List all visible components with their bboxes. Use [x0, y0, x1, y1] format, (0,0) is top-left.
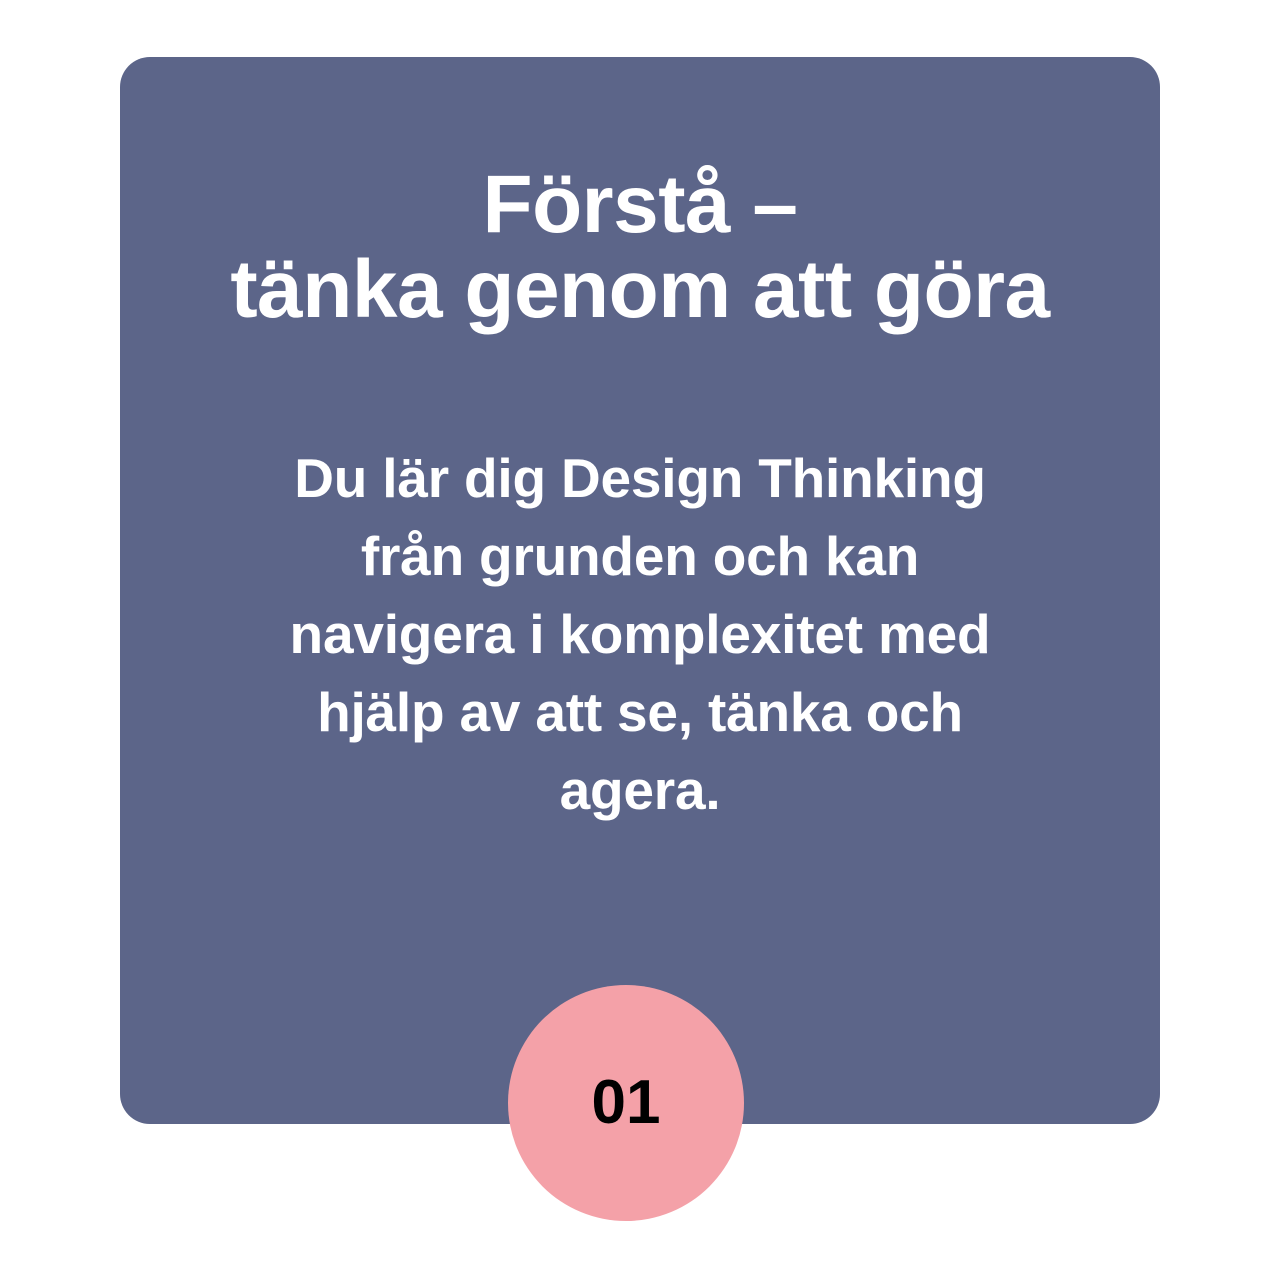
card-title: Förstå – tänka genom att göra [150, 162, 1130, 333]
title-body-spacer [150, 333, 1130, 439]
step-number-label: 01 [592, 1072, 661, 1134]
card-content: Förstå – tänka genom att göra Du lär dig… [120, 57, 1160, 829]
page-canvas: Förstå – tänka genom att göra Du lär dig… [0, 0, 1280, 1280]
card-body-text: Du lär dig Design Thinking från grunden … [150, 439, 1130, 829]
step-number-badge: 01 [508, 985, 744, 1221]
step-card: Förstå – tänka genom att göra Du lär dig… [120, 57, 1160, 1124]
